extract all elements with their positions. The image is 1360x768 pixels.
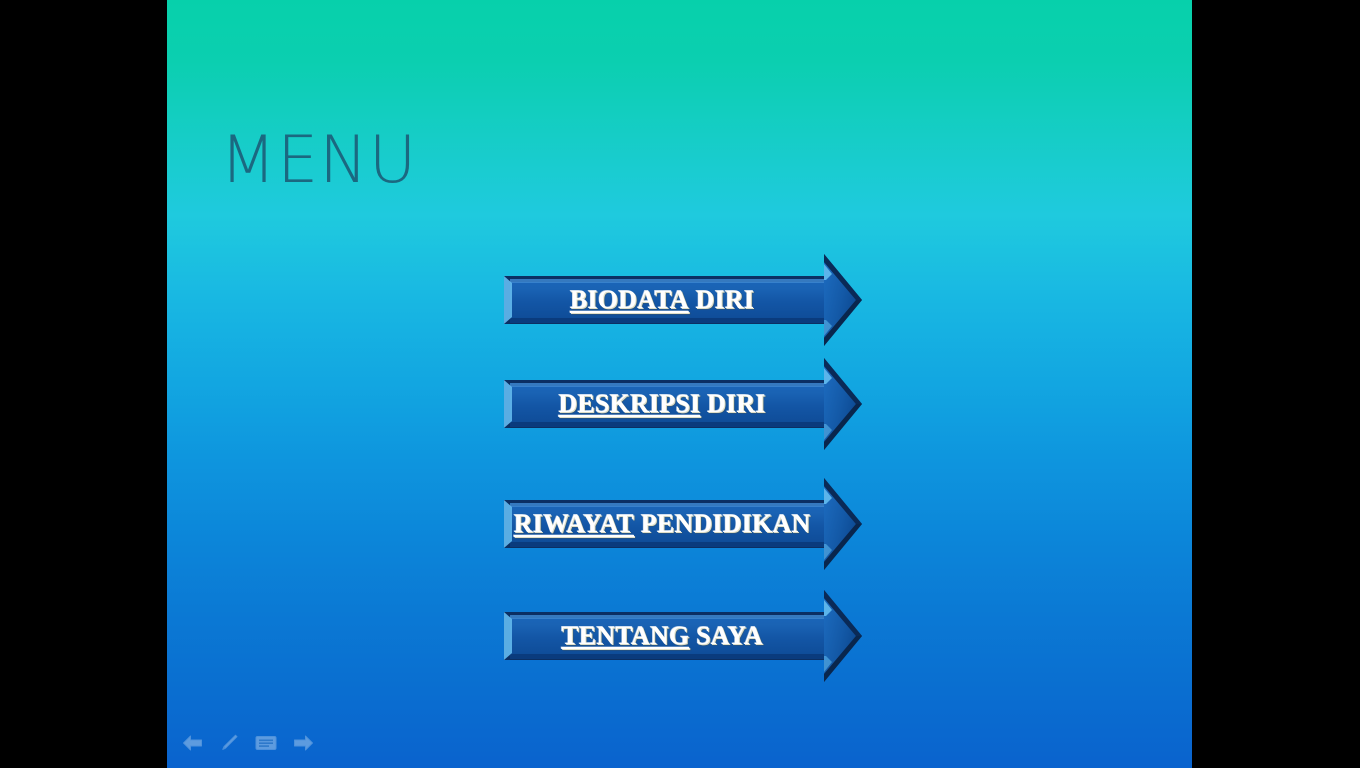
next-slide-arrow-icon[interactable] xyxy=(292,732,314,754)
right-arrow-shape-icon xyxy=(502,588,864,684)
menu-button-tentang-saya[interactable]: TENTANG SAYA xyxy=(502,588,864,684)
slideshow-stage: MENU xyxy=(0,0,1360,768)
presentation-slide: MENU xyxy=(167,0,1192,768)
letterbox-bar-right xyxy=(1192,0,1360,768)
letterbox-bar-left xyxy=(0,0,167,768)
menu-button-deskripsi-diri[interactable]: DESKRIPSI DIRI xyxy=(502,356,864,452)
menu-button-biodata-diri[interactable]: BIODATA DIRI xyxy=(502,252,864,348)
menu-button-riwayat-pendidikan[interactable]: RIWAYAT PENDIDIKAN xyxy=(502,476,864,572)
right-arrow-shape-icon xyxy=(502,252,864,348)
right-arrow-shape-icon xyxy=(502,356,864,452)
presenter-toolbar xyxy=(175,728,320,758)
slide-menu-icon[interactable] xyxy=(255,732,277,754)
right-arrow-shape-icon xyxy=(502,476,864,572)
previous-slide-arrow-icon[interactable] xyxy=(181,732,203,754)
pen-icon[interactable] xyxy=(218,732,240,754)
page-title: MENU xyxy=(220,128,417,193)
